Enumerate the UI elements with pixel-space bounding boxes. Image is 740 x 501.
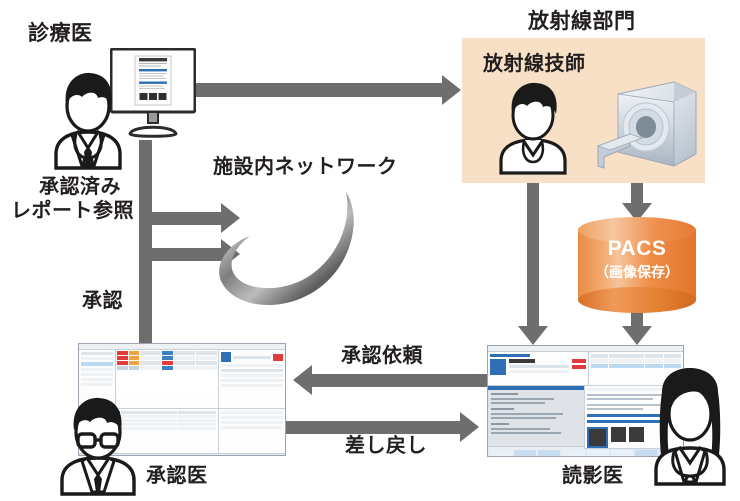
label-reading-doctor: 読影医 bbox=[562, 464, 624, 486]
reader-avatar-icon bbox=[642, 368, 738, 486]
arrow-send-back-head bbox=[460, 412, 479, 442]
network-swoosh-icon bbox=[218, 186, 358, 308]
arrow-radiology-to-pacs-shaft bbox=[631, 183, 643, 205]
approver-avatar-icon bbox=[50, 390, 146, 496]
label-approving-doctor: 承認医 bbox=[146, 464, 208, 486]
label-clinician: 診療医 bbox=[28, 22, 93, 46]
clinician-avatar-icon bbox=[42, 62, 134, 170]
pacs-cylinder-icon: PACS （画像保存） bbox=[578, 217, 696, 313]
pacs-label: PACS bbox=[578, 237, 696, 261]
label-approved-report-line2: レポート参照 bbox=[11, 199, 134, 221]
arrow-radiology-to-reader-head bbox=[518, 326, 548, 345]
technologist-avatar-icon bbox=[490, 75, 576, 175]
ct-scanner-icon bbox=[596, 78, 700, 178]
arrow-approve-shaft bbox=[139, 248, 221, 261]
label-radiology-department: 放射線部門 bbox=[528, 10, 636, 34]
label-approve: 承認 bbox=[82, 289, 123, 311]
arrow-radiology-to-reader-shaft bbox=[527, 183, 539, 328]
workflow-diagram: PACS （画像保存） bbox=[0, 0, 740, 501]
label-radiologic-technologist: 放射線技師 bbox=[483, 52, 586, 74]
pacs-sublabel: （画像保存） bbox=[578, 262, 696, 282]
arrow-pacs-to-reader-head bbox=[622, 326, 652, 345]
label-approval-request: 承認依頼 bbox=[341, 344, 423, 366]
arrow-clinician-to-radiology-shaft bbox=[190, 83, 442, 97]
label-send-back: 差し戻し bbox=[345, 434, 427, 456]
label-approved-report-line1: 承認済み bbox=[39, 175, 121, 197]
arrow-approved-report-shaft bbox=[139, 212, 221, 225]
arrow-approval-request-shaft bbox=[312, 374, 487, 387]
arrow-approval-request-head bbox=[293, 365, 312, 395]
arrow-clinician-to-radiology-head bbox=[442, 75, 461, 105]
label-facility-network: 施設内ネットワーク bbox=[213, 155, 398, 177]
